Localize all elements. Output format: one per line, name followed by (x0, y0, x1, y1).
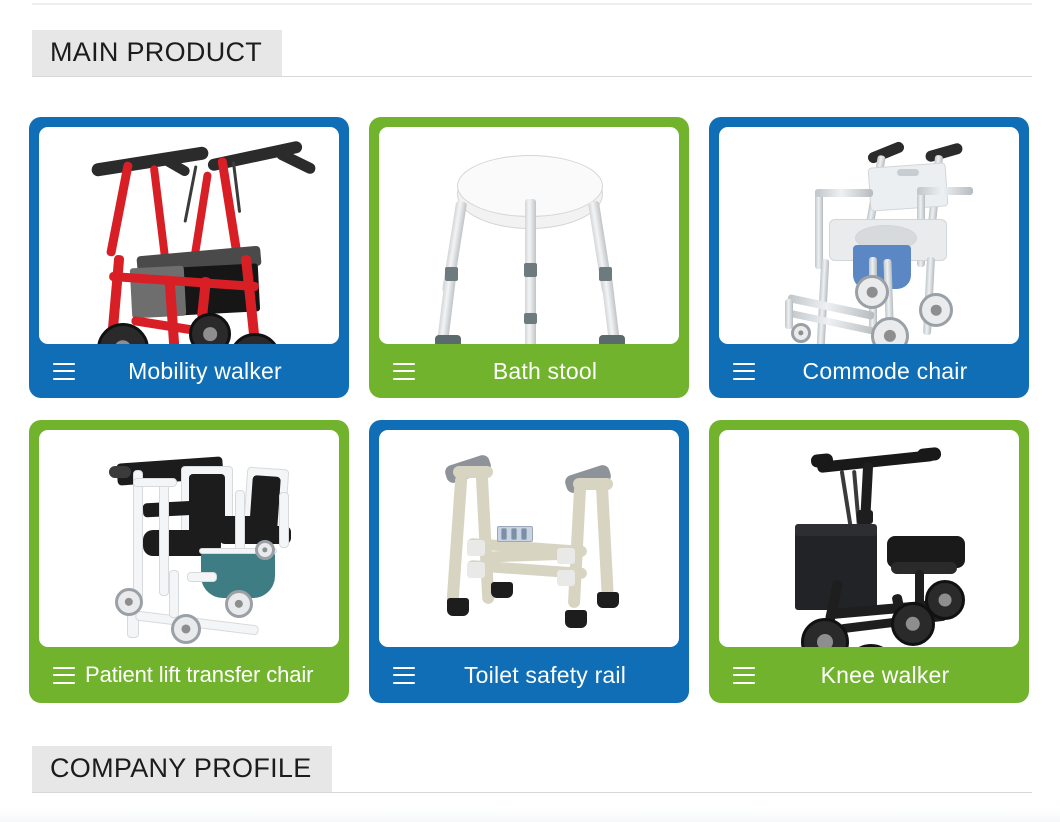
hamburger-icon (733, 667, 755, 684)
product-card-toilet-safety-rail[interactable]: Toilet safety rail (369, 420, 689, 703)
product-image-mobility-walker (39, 127, 339, 344)
product-image-patient-lift-transfer-chair (39, 430, 339, 647)
product-label-bar-bath-stool[interactable]: Bath stool (379, 344, 679, 398)
product-title-toilet-safety-rail: Toilet safety rail (423, 662, 673, 689)
top-divider (32, 3, 1032, 5)
product-card-knee-walker[interactable]: Knee walker (709, 420, 1029, 703)
product-title-mobility-walker: Mobility walker (83, 358, 333, 385)
hamburger-icon (393, 363, 415, 380)
product-card-mobility-walker[interactable]: Mobility walker (29, 117, 349, 398)
product-label-bar-mobility-walker[interactable]: Mobility walker (39, 344, 339, 398)
product-card-commode-chair[interactable]: Commode chair (709, 117, 1029, 398)
company-profile-title-box: COMPANY PROFILE (32, 746, 332, 792)
section-header-company-profile: COMPANY PROFILE (32, 746, 1032, 793)
product-label-bar-patient-lift-transfer-chair[interactable]: Patient lift transfer chair (39, 647, 339, 703)
bath-stool-illustration (379, 127, 679, 344)
section-header-main-product: MAIN PRODUCT (32, 30, 1032, 77)
hamburger-icon (53, 363, 75, 380)
product-label-bar-toilet-safety-rail[interactable]: Toilet safety rail (379, 647, 679, 703)
hamburger-icon (393, 667, 415, 684)
commode-chair-illustration (719, 127, 1019, 344)
product-title-bath-stool: Bath stool (423, 358, 673, 385)
product-label-bar-commode-chair[interactable]: Commode chair (719, 344, 1019, 398)
patient-lift-transfer-chair-illustration (39, 430, 339, 647)
product-title-knee-walker: Knee walker (763, 662, 1013, 689)
hamburger-icon (53, 667, 75, 684)
toilet-safety-rail-illustration (379, 430, 679, 647)
product-title-commode-chair: Commode chair (763, 358, 1013, 385)
product-image-bath-stool (379, 127, 679, 344)
product-image-commode-chair (719, 127, 1019, 344)
product-image-knee-walker (719, 430, 1019, 647)
product-page: MAIN PRODUCT (0, 0, 1060, 822)
product-title-patient-lift-transfer-chair: Patient lift transfer chair (83, 662, 333, 688)
main-product-divider (32, 76, 1032, 77)
bottom-band (0, 808, 1060, 822)
product-grid: Mobility walker (29, 117, 1031, 703)
product-card-patient-lift-transfer-chair[interactable]: Patient lift transfer chair (29, 420, 349, 703)
main-product-title: MAIN PRODUCT (50, 37, 262, 68)
hamburger-icon (733, 363, 755, 380)
company-profile-title: COMPANY PROFILE (50, 753, 312, 784)
product-card-bath-stool[interactable]: Bath stool (369, 117, 689, 398)
knee-walker-illustration (719, 430, 1019, 647)
mobility-walker-illustration (39, 127, 339, 344)
product-image-toilet-safety-rail (379, 430, 679, 647)
main-product-title-box: MAIN PRODUCT (32, 30, 282, 76)
product-label-bar-knee-walker[interactable]: Knee walker (719, 647, 1019, 703)
company-profile-divider (32, 792, 1032, 793)
